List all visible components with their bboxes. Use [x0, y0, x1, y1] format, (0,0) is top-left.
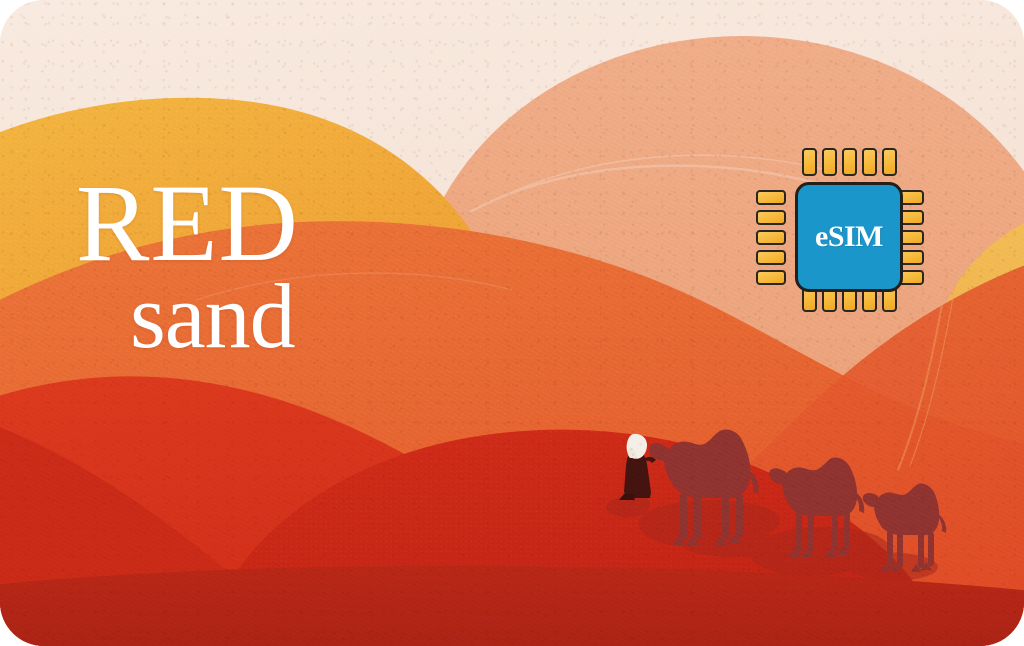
chip-pin-left-2	[756, 210, 786, 225]
chip-pin-left-1	[756, 190, 786, 205]
chip-pin-left-4	[756, 250, 786, 265]
brand-logo: RED sand	[72, 174, 372, 358]
chip-pin-top-5	[882, 148, 897, 176]
chip-pin-top-4	[862, 148, 877, 176]
esim-card: RED sand eSIM	[0, 0, 1024, 646]
esim-chip-icon: eSIM	[752, 146, 928, 314]
brand-logo-line-red: RED	[72, 174, 372, 273]
chip-pin-left-3	[756, 230, 786, 245]
chip-pin-top-1	[802, 148, 817, 176]
brand-logo-line-sand: sand	[72, 275, 372, 358]
chip-pin-top-3	[842, 148, 857, 176]
chip-pin-top-2	[822, 148, 837, 176]
chip-pin-left-5	[756, 270, 786, 285]
chip-label: eSIM	[815, 220, 883, 254]
chip-body: eSIM	[795, 182, 903, 292]
